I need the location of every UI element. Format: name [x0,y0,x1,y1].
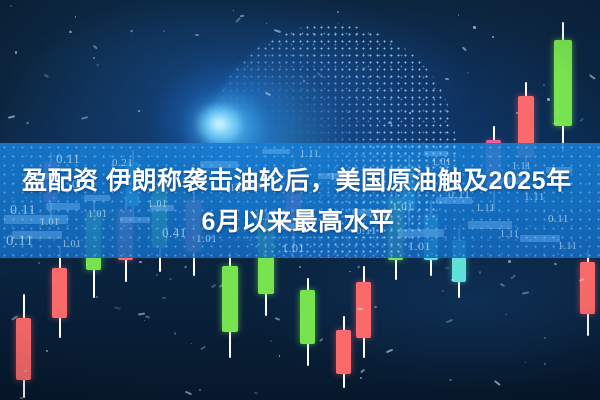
particle [374,306,377,309]
particle [544,337,546,339]
particle [162,296,166,298]
particle [174,332,177,335]
floating-number: 0.11 [256,211,277,223]
particle [363,53,364,54]
floating-number: 0.11 [356,225,377,237]
floating-number: 0.21 [112,157,133,169]
floating-number: 0.11 [10,203,36,219]
candlestick [554,22,572,152]
band-bar [200,161,238,168]
particle [69,31,71,33]
floating-number: 1.11 [330,171,351,183]
particle [360,377,362,379]
floating-number: 0.11 [448,187,471,202]
particle [52,279,54,281]
candlestick-body [356,282,371,338]
particle [46,350,48,352]
candlestick-body [222,266,238,332]
particle [20,396,23,398]
floating-number: 1.01 [230,183,250,194]
floating-number: 0.11 [6,233,34,250]
band-bar [468,221,512,229]
band-bar [46,203,80,210]
band-bar [498,177,528,183]
particle [479,271,482,274]
floating-number: 1.01 [408,239,431,254]
floating-number: 1.11 [300,149,319,160]
candlestick [336,316,351,388]
floating-number: 1.11 [524,191,545,203]
candlestick-body [580,262,595,314]
particle [93,57,95,59]
floating-number: 0.41 [162,225,187,241]
particle [547,98,550,101]
band-bar [398,229,444,237]
particle [473,26,476,29]
candlestick-body [52,268,67,318]
floating-number: 1.01 [196,233,217,245]
floating-number: 1.11 [558,241,577,252]
band-bar [84,195,110,201]
floating-number: 0.21 [72,177,95,192]
floating-number: 1.01 [392,201,413,213]
band-bar [424,151,448,156]
floating-number: 1.01 [62,239,82,250]
particle [301,334,302,335]
band-bar [546,167,572,173]
floating-number: 1.01 [148,199,168,210]
particle [508,260,511,263]
band-bar [352,209,392,216]
candlestick [300,278,315,366]
candlestick [356,266,371,358]
particle [138,110,140,112]
particle [169,278,171,280]
floating-number: 1.01 [40,217,60,228]
particle [451,279,453,281]
floating-number: 0.11 [56,151,80,167]
floating-number: 1.01 [282,241,305,256]
floating-number: 1.11 [500,229,519,240]
floating-number: 1.01 [432,157,452,168]
news-banner-image: 0.110.211.110.111.011.010.111.010.211.01… [0,0,600,400]
particle [299,266,301,268]
band-bar [120,217,150,223]
particle [409,112,410,113]
particle [362,67,367,69]
particle [38,262,40,264]
candlestick-body [300,290,315,344]
core-highlight [196,104,242,144]
floating-number: 1.11 [512,161,531,172]
floating-number: 1.11 [476,203,495,214]
headline-band: 0.110.211.110.111.011.010.111.010.211.01… [0,143,600,258]
particle [445,78,449,80]
floating-number: 0.11 [548,213,569,225]
band-bar [24,173,54,179]
particle [15,51,17,53]
particle [75,16,77,18]
band-bar [276,223,310,230]
particle [303,80,305,82]
particle [544,363,546,365]
candlestick-body [336,330,351,374]
candlestick [580,250,595,336]
particle [337,11,339,13]
candlestick [52,246,67,338]
candlestick [222,252,238,358]
band-bar [262,149,290,154]
floating-number: 1.01 [88,209,108,220]
band-bar [520,235,560,242]
particle [199,389,201,391]
